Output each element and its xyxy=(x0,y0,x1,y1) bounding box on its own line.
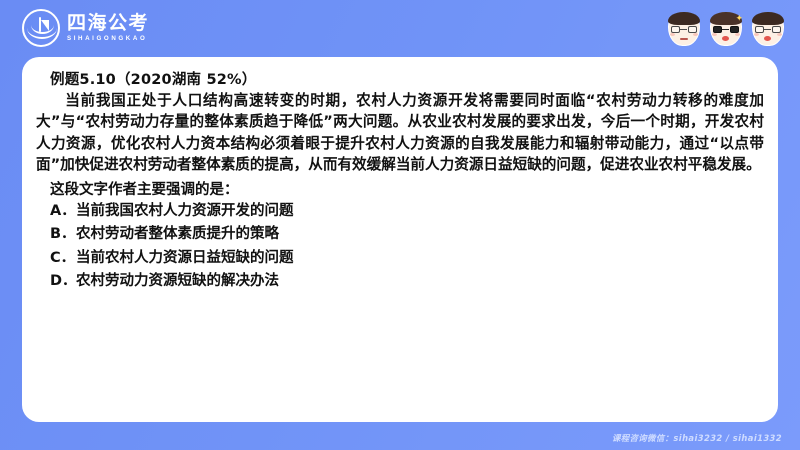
mouth-shape xyxy=(764,36,771,41)
option-a[interactable]: A． 当前我国农村人力资源开发的问题 xyxy=(50,200,764,223)
avatar xyxy=(750,9,786,47)
hair-shape xyxy=(668,12,700,25)
option-c-label: 当前农村人力资源日益短缺的问题 xyxy=(76,247,294,270)
slide-header: 四海公考 SIHAIGONGKAO ✦ xyxy=(0,0,800,57)
lens-right xyxy=(730,26,739,33)
sailboat-circle-icon xyxy=(22,9,60,47)
mouth-shape xyxy=(722,36,729,41)
glasses-bridge xyxy=(764,29,771,30)
blush-right xyxy=(693,33,698,36)
option-c[interactable]: C． 当前农村人力资源日益短缺的问题 xyxy=(50,247,764,270)
brand-name-cn: 四海公考 xyxy=(67,14,149,33)
option-d-label: 农村劳动力资源短缺的解决办法 xyxy=(76,270,279,293)
avatar-group: ✦ xyxy=(666,9,786,47)
question-title: 例题5.10（2020湖南 52%） xyxy=(50,68,764,89)
blush-right xyxy=(777,33,782,36)
option-b[interactable]: B． 农村劳动者整体素质提升的策略 xyxy=(50,223,764,246)
option-a-label: 当前我国农村人力资源开发的问题 xyxy=(76,200,294,223)
option-list: A． 当前我国农村人力资源开发的问题 B． 农村劳动者整体素质提升的策略 C． … xyxy=(50,200,764,294)
brand-logo: 四海公考 SIHAIGONGKAO xyxy=(22,9,149,47)
lens-right xyxy=(688,26,697,33)
slide-root: 四海公考 SIHAIGONGKAO ✦ xyxy=(0,0,800,450)
glasses-bridge xyxy=(722,29,729,30)
wave-lower-shape xyxy=(27,28,57,39)
mouth-shape xyxy=(680,38,688,40)
option-c-key: C． xyxy=(50,247,76,270)
question-prompt: 这段文字作者主要强调的是： xyxy=(50,178,764,199)
lens-right xyxy=(772,26,781,33)
option-d-key: D． xyxy=(50,270,76,293)
lens-left xyxy=(755,26,764,33)
avatar: ✦ xyxy=(708,9,744,47)
blush-left xyxy=(670,33,675,36)
option-d[interactable]: D． 农村劳动力资源短缺的解决办法 xyxy=(50,270,764,293)
glasses-bridge xyxy=(680,29,687,30)
brand-text: 四海公考 SIHAIGONGKAO xyxy=(67,14,149,42)
question-card: 例题5.10（2020湖南 52%） 当前我国正处于人口结构高速转变的时期，农村… xyxy=(22,57,778,422)
blush-right xyxy=(735,33,740,36)
blush-left xyxy=(754,33,759,36)
question-passage: 当前我国正处于人口结构高速转变的时期，农村人力资源开发将需要同时面临“农村劳动力… xyxy=(36,90,764,176)
sunglasses-icon xyxy=(713,26,739,33)
footer-contact: 课程咨询微信：sihai3232 / sihai1332 xyxy=(612,432,782,444)
lens-left xyxy=(713,26,722,33)
avatar xyxy=(666,9,702,47)
glasses-icon xyxy=(755,26,781,33)
blush-left xyxy=(712,33,717,36)
option-b-label: 农村劳动者整体素质提升的策略 xyxy=(76,223,279,246)
option-a-key: A． xyxy=(50,200,76,223)
brand-name-en: SIHAIGONGKAO xyxy=(67,36,149,42)
option-b-key: B． xyxy=(50,223,76,246)
lens-left xyxy=(671,26,680,33)
hair-shape xyxy=(752,12,784,25)
sparkle-icon: ✦ xyxy=(735,14,743,23)
glasses-icon xyxy=(671,26,697,33)
